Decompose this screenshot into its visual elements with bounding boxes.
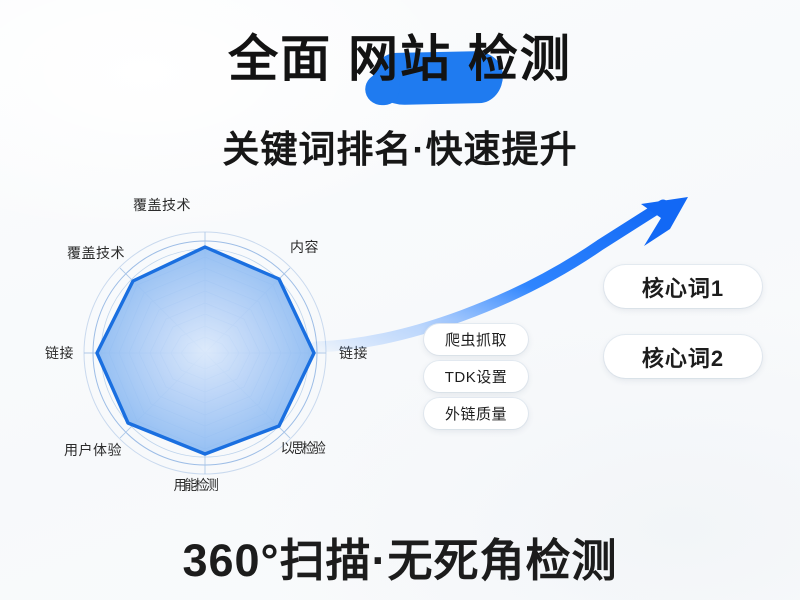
- radar-axis-label-top-left: 覆盖技术: [67, 243, 125, 263]
- tag-label: TDK设置: [445, 366, 508, 387]
- keyword-pill-2[interactable]: 核心词2: [604, 335, 762, 378]
- page-subtitle: 关键词排名·快速提升: [0, 119, 800, 173]
- tag-label: 外链质量: [445, 403, 507, 424]
- radar-axis-label-left: 链接: [45, 343, 74, 363]
- radar-axis-label-right: 链接: [339, 343, 368, 363]
- title-suffix: 检测: [468, 31, 572, 87]
- page-title: 全面 网站 检测: [228, 34, 572, 84]
- arrow-head: [641, 197, 688, 246]
- radar-axis-label-bottom-left: 用户体验: [64, 440, 122, 460]
- footer-headline: 360°扫描·无死角检测: [0, 524, 800, 589]
- page-title-block: 全面 网站 检测: [0, 34, 800, 84]
- radar-axis-label-bottom-right: 以思检验: [281, 438, 324, 458]
- title-highlight-text: 网站: [348, 31, 452, 87]
- radar-axis-label-bottom: 用能检测: [174, 475, 217, 495]
- title-prefix: 全面: [228, 31, 332, 87]
- keyword-pill-1[interactable]: 核心词1: [604, 265, 762, 308]
- keyword-label: 核心词2: [642, 341, 724, 373]
- keyword-label: 核心词1: [642, 271, 724, 303]
- tag-tdk-settings[interactable]: TDK设置: [424, 361, 528, 392]
- radar-axis-label-top: 覆盖技术: [133, 195, 191, 215]
- tag-crawler-fetch[interactable]: 爬虫抓取: [424, 324, 528, 355]
- tag-backlink-quality[interactable]: 外链质量: [424, 398, 528, 429]
- radar-axis-label-top-right: 内容: [290, 237, 319, 257]
- tag-label: 爬虫抓取: [445, 329, 507, 350]
- radar-chart: 覆盖技术 内容 链接 以思检验 用能检测 用户体验 链接 覆盖技术: [45, 195, 405, 515]
